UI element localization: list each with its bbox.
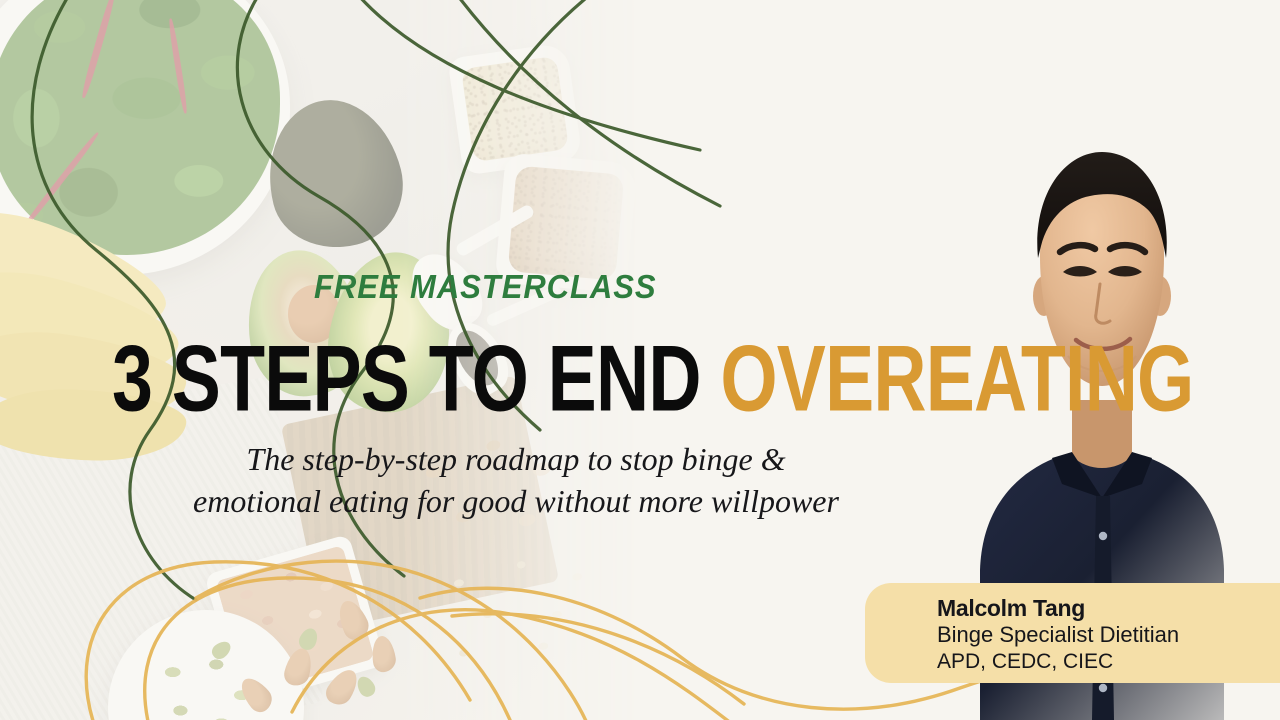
headline-accent: OVEREATING [720, 327, 1193, 431]
kicker-text: FREE MASTERCLASS [314, 268, 656, 306]
headline-main: 3 STEPS TO END [112, 327, 701, 431]
promo-banner: FREE MASTERCLASS 3 STEPS TO END OVEREATI… [0, 0, 1280, 720]
headline: 3 STEPS TO END OVEREATING [112, 332, 1194, 426]
speaker-role: Binge Specialist Dietitian [937, 622, 1179, 649]
speaker-name: Malcolm Tang [937, 594, 1179, 622]
subheadline: The step-by-step roadmap to stop binge &… [166, 438, 866, 522]
subheadline-line-2: emotional eating for good without more w… [166, 480, 866, 522]
speaker-name-card: Malcolm Tang Binge Specialist Dietitian … [865, 583, 1280, 683]
speaker-credentials: APD, CEDC, CIEC [937, 649, 1179, 675]
subheadline-line-1: The step-by-step roadmap to stop binge & [246, 441, 785, 477]
